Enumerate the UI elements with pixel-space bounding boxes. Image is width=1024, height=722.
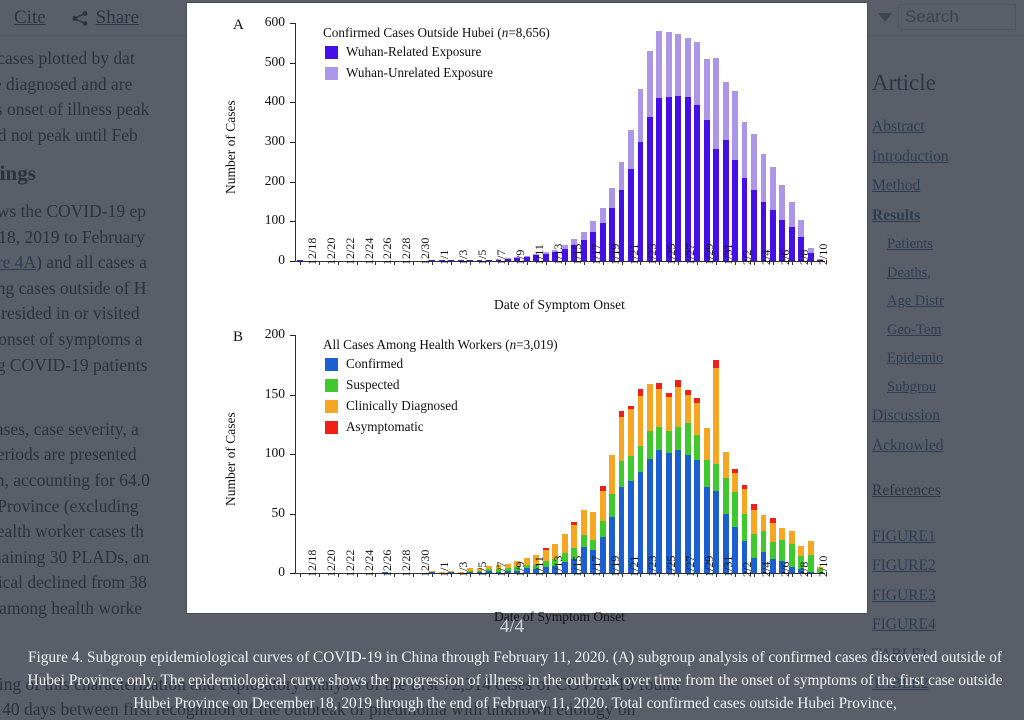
chart-panel-a: A0100200300400500600Number of CasesConfi… xyxy=(187,11,867,311)
bar-segment xyxy=(742,485,748,489)
bar-segment xyxy=(808,541,814,555)
x-tick-mark xyxy=(754,262,755,265)
bar-2-3[interactable] xyxy=(742,485,748,573)
x-tick-mark xyxy=(527,574,528,577)
bar-1-24[interactable] xyxy=(647,384,653,573)
x-tick-label: 12/24 xyxy=(362,238,377,265)
x-tick-label: 1/17 xyxy=(589,556,604,577)
bar-segment xyxy=(694,42,700,105)
bar-segment xyxy=(600,521,606,538)
bar-segment xyxy=(675,427,681,451)
x-tick-mark xyxy=(394,262,395,265)
bar-segment xyxy=(713,58,719,148)
bar-segment xyxy=(704,460,710,487)
x-tick-label: 1/3 xyxy=(456,250,471,265)
bar-segment xyxy=(666,431,672,452)
x-tick-label: 2/10 xyxy=(816,556,831,577)
x-tick-label: 1/9 xyxy=(513,250,528,265)
x-tick-mark xyxy=(413,262,414,265)
bar-segment xyxy=(628,406,634,408)
bar-segment xyxy=(713,464,719,491)
page-indicator: 4/4 xyxy=(0,616,1024,638)
bar-1-21[interactable] xyxy=(619,411,625,573)
bar-segment xyxy=(600,486,606,491)
x-tick-label: 1/11 xyxy=(532,244,547,265)
bar-1-24[interactable] xyxy=(647,51,653,261)
bar-segment xyxy=(600,208,606,223)
bar-segment xyxy=(562,534,568,553)
bar-segment xyxy=(638,389,644,396)
x-tick-label: 2/4 xyxy=(759,562,774,577)
x-tick-label: 12/28 xyxy=(399,238,414,265)
bar-segment xyxy=(694,435,700,460)
x-tick-label: 1/9 xyxy=(513,562,528,577)
bar-segment xyxy=(628,409,634,457)
x-tick-label: 1/3 xyxy=(456,562,471,577)
x-tick-label: 2/2 xyxy=(740,250,755,265)
bar-segment xyxy=(779,540,785,561)
x-tick-label: 12/30 xyxy=(418,550,433,577)
bar-segment xyxy=(704,120,710,261)
figure-canvas: A0100200300400500600Number of CasesConfi… xyxy=(187,3,867,613)
bar-segment xyxy=(666,97,672,261)
x-tick-label: 1/29 xyxy=(702,244,717,265)
y-axis-title: Number of Cases xyxy=(223,412,239,506)
bar-segment xyxy=(638,89,644,143)
bar-segment xyxy=(297,260,303,261)
x-tick-label: 1/5 xyxy=(475,250,490,265)
x-tick-label: 1/25 xyxy=(664,556,679,577)
x-tick-mark xyxy=(432,574,433,577)
x-tick-label: 1/27 xyxy=(683,556,698,577)
bar-segment xyxy=(742,178,748,261)
bar-1-28[interactable] xyxy=(685,390,691,573)
x-tick-mark xyxy=(678,574,679,577)
bar-segment xyxy=(751,510,757,534)
x-tick-label: 1/21 xyxy=(627,244,642,265)
bar-2-4[interactable] xyxy=(751,134,757,261)
x-tick-label: 1/19 xyxy=(608,556,623,577)
bar-segment xyxy=(704,59,710,120)
bar-segment xyxy=(619,162,625,191)
chart-panel-b: B050100150200Number of CasesAll Cases Am… xyxy=(187,323,867,623)
x-tick-mark xyxy=(394,574,395,577)
bar-1-22[interactable] xyxy=(628,406,634,573)
x-tick-label: 1/7 xyxy=(494,562,509,577)
bar-1-29[interactable] xyxy=(694,398,700,573)
bar-segment xyxy=(543,548,549,550)
bar-segment xyxy=(694,403,700,435)
x-tick-label: 1/7 xyxy=(494,250,509,265)
bar-segment xyxy=(798,220,804,237)
bar-segment xyxy=(770,167,776,210)
x-tick-label: 1/29 xyxy=(702,556,717,577)
plot-area xyxy=(295,335,825,573)
x-tick-mark xyxy=(357,574,358,577)
x-tick-label: 2/8 xyxy=(797,250,812,265)
bar-segment xyxy=(675,34,681,96)
bar-segment xyxy=(694,398,700,403)
x-tick-label: 1/11 xyxy=(532,556,547,577)
bar-segment xyxy=(609,455,615,494)
x-tick-mark xyxy=(413,574,414,577)
x-tick-mark xyxy=(451,574,452,577)
bar-1-23[interactable] xyxy=(638,89,644,261)
x-tick-label: 1/13 xyxy=(551,556,566,577)
bar-segment xyxy=(789,202,795,227)
x-tick-mark xyxy=(697,574,698,577)
bar-segment xyxy=(732,469,738,473)
bar-segment xyxy=(732,492,738,527)
bar-segment xyxy=(761,515,767,532)
x-tick-mark xyxy=(338,262,339,265)
bar-segment xyxy=(647,384,653,432)
bar-segment xyxy=(723,82,729,140)
bar-1-31[interactable] xyxy=(713,58,719,261)
bar-segment xyxy=(609,494,615,517)
x-tick-mark xyxy=(546,262,547,265)
bar-segment xyxy=(713,360,719,368)
x-tick-label: 1/1 xyxy=(437,562,452,577)
bar-segment xyxy=(628,130,634,169)
x-tick-label: 1/19 xyxy=(608,244,623,265)
bar-segment xyxy=(713,368,719,463)
bar-segment xyxy=(723,452,729,478)
x-tick-label: 12/28 xyxy=(399,550,414,577)
bar-1-26[interactable] xyxy=(666,32,672,261)
bar-segment xyxy=(761,531,767,551)
x-tick-label: 12/22 xyxy=(343,550,358,577)
x-tick-label: 1/31 xyxy=(721,556,736,577)
x-tick-label: 1/27 xyxy=(683,244,698,265)
bar-1-28[interactable] xyxy=(685,38,691,261)
x-tick-mark xyxy=(735,262,736,265)
x-tick-mark xyxy=(489,574,490,577)
bar-segment xyxy=(675,387,681,426)
x-tick-mark xyxy=(811,262,812,265)
x-tick-mark xyxy=(470,262,471,265)
bar-segment xyxy=(751,534,757,558)
bar-segment xyxy=(704,428,710,460)
y-tick-label: 0 xyxy=(245,567,285,577)
bar-segment xyxy=(628,456,634,481)
bar-1-25[interactable] xyxy=(656,31,662,261)
bar-segment xyxy=(590,221,596,232)
bar-segment xyxy=(581,232,587,240)
x-tick-mark xyxy=(546,574,547,577)
x-tick-mark xyxy=(489,262,490,265)
bar-segment xyxy=(742,514,748,541)
bar-segment xyxy=(571,522,577,526)
x-tick-label: 1/23 xyxy=(645,244,660,265)
bar-segment xyxy=(666,397,672,432)
plot-area xyxy=(295,23,825,261)
x-tick-mark xyxy=(678,262,679,265)
y-tick-label: 0 xyxy=(245,255,285,265)
bar-segment xyxy=(619,461,625,487)
x-tick-mark xyxy=(659,262,660,265)
bar-segment xyxy=(656,427,662,451)
bar-segment xyxy=(723,478,729,514)
x-tick-mark xyxy=(375,262,376,265)
x-tick-label: 1/15 xyxy=(570,556,585,577)
x-tick-label: 2/6 xyxy=(778,562,793,577)
x-tick-label: 12/26 xyxy=(380,238,395,265)
x-tick-mark xyxy=(375,574,376,577)
y-tick-mark xyxy=(290,261,295,262)
x-tick-mark xyxy=(716,574,717,577)
y-tick-label: 100 xyxy=(245,448,285,458)
bar-2-3[interactable] xyxy=(742,122,748,261)
bar-segment xyxy=(742,489,748,514)
x-tick-label: 1/25 xyxy=(664,244,679,265)
x-tick-label: 2/6 xyxy=(778,250,793,265)
bar-2-2[interactable] xyxy=(732,91,738,261)
bar-segment xyxy=(751,134,757,190)
x-tick-mark xyxy=(603,262,604,265)
panel-letter: A xyxy=(233,17,244,34)
bar-1-27[interactable] xyxy=(675,34,681,261)
bar-1-30[interactable] xyxy=(704,59,710,261)
y-tick-label: 50 xyxy=(245,508,285,518)
x-tick-mark xyxy=(319,574,320,577)
bar-segment xyxy=(685,97,691,261)
x-tick-mark xyxy=(432,262,433,265)
bar-segment xyxy=(656,450,662,573)
x-tick-mark xyxy=(584,262,585,265)
bar-segment xyxy=(779,185,785,220)
bar-segment xyxy=(770,542,776,559)
x-tick-label: 12/24 xyxy=(362,550,377,577)
bar-segment xyxy=(581,535,587,547)
bar-segment xyxy=(571,525,577,548)
x-tick-mark xyxy=(773,574,774,577)
x-tick-mark xyxy=(773,262,774,265)
bar-segment xyxy=(600,491,606,521)
bar-segment xyxy=(647,51,653,118)
y-tick-label: 400 xyxy=(245,96,285,106)
bar-segment xyxy=(656,98,662,261)
x-tick-mark xyxy=(792,574,793,577)
bar-2-1[interactable] xyxy=(723,82,729,261)
bar-1-31[interactable] xyxy=(713,360,719,573)
x-tick-mark xyxy=(603,574,604,577)
bar-segment xyxy=(666,32,672,97)
bar-segment xyxy=(751,504,757,510)
bar-segment xyxy=(685,395,691,424)
bar-segment xyxy=(656,389,662,427)
bar-segment xyxy=(619,417,625,461)
x-tick-label: 12/20 xyxy=(324,238,339,265)
x-tick-label: 2/8 xyxy=(797,562,812,577)
x-tick-mark xyxy=(697,262,698,265)
x-tick-mark xyxy=(527,262,528,265)
bar-1-22[interactable] xyxy=(628,130,634,261)
bar-segment xyxy=(732,473,738,492)
x-tick-label: 12/18 xyxy=(305,238,320,265)
bar-segment xyxy=(581,510,587,535)
y-tick-label: 500 xyxy=(245,57,285,67)
x-tick-label: 1/17 xyxy=(589,244,604,265)
x-tick-mark xyxy=(754,574,755,577)
figure-caption: Figure 4. Subgroup epidemiological curve… xyxy=(16,646,1014,715)
x-tick-mark xyxy=(716,262,717,265)
bar-2-5[interactable] xyxy=(761,154,767,261)
y-tick-label: 200 xyxy=(245,329,285,339)
x-tick-label: 2/10 xyxy=(816,244,831,265)
bar-segment xyxy=(675,450,681,573)
bar-segment xyxy=(647,117,653,261)
bar-segment xyxy=(647,431,653,458)
bar-1-30[interactable] xyxy=(704,428,710,573)
bar-segment xyxy=(798,546,804,557)
x-tick-label: 12/30 xyxy=(418,238,433,265)
x-tick-mark xyxy=(338,574,339,577)
bar-1-26[interactable] xyxy=(666,393,672,573)
x-tick-mark xyxy=(357,262,358,265)
bar-segment xyxy=(619,411,625,417)
x-tick-mark xyxy=(565,574,566,577)
bar-1-23[interactable] xyxy=(638,389,644,573)
y-tick-mark xyxy=(290,573,295,574)
x-tick-mark xyxy=(735,574,736,577)
x-tick-label: 1/15 xyxy=(570,244,585,265)
bar-segment xyxy=(656,383,662,389)
bar-segment xyxy=(779,528,785,540)
y-tick-label: 300 xyxy=(245,136,285,146)
bar-segment xyxy=(656,31,662,98)
y-tick-label: 150 xyxy=(245,389,285,399)
bar-segment xyxy=(761,154,767,202)
panel-letter: B xyxy=(233,329,243,346)
bar-segment xyxy=(770,523,776,542)
x-tick-label: 1/5 xyxy=(475,562,490,577)
x-tick-mark xyxy=(640,574,641,577)
bar-segment xyxy=(685,38,691,96)
bar-1-27[interactable] xyxy=(675,380,681,573)
x-tick-label: 1/21 xyxy=(627,556,642,577)
bar-segment xyxy=(590,540,596,551)
y-tick-label: 200 xyxy=(245,176,285,186)
bar-2-6[interactable] xyxy=(770,167,776,261)
bar-segment xyxy=(742,122,748,178)
x-tick-mark xyxy=(565,262,566,265)
x-tick-label: 12/22 xyxy=(343,238,358,265)
bar-segment xyxy=(789,531,795,544)
x-tick-mark xyxy=(640,262,641,265)
x-tick-mark xyxy=(451,262,452,265)
bar-segment xyxy=(675,96,681,261)
bar-segment xyxy=(638,446,644,472)
bar-segment xyxy=(609,188,615,209)
bar-segment xyxy=(666,393,672,397)
x-tick-label: 1/23 xyxy=(645,556,660,577)
x-tick-mark xyxy=(792,262,793,265)
x-tick-mark xyxy=(508,262,509,265)
bar-1-29[interactable] xyxy=(694,42,700,261)
x-tick-mark xyxy=(622,262,623,265)
bar-segment xyxy=(732,91,738,160)
x-tick-mark xyxy=(622,574,623,577)
x-tick-mark xyxy=(659,574,660,577)
x-tick-mark xyxy=(300,574,301,577)
bar-segment xyxy=(685,423,691,455)
x-tick-mark xyxy=(300,262,301,265)
x-tick-label: 1/31 xyxy=(721,244,736,265)
bar-segment xyxy=(675,380,681,387)
x-tick-mark xyxy=(470,574,471,577)
x-tick-label: 2/2 xyxy=(740,562,755,577)
x-tick-label: 1/1 xyxy=(437,250,452,265)
bar-segment xyxy=(685,390,691,395)
y-tick-label: 600 xyxy=(245,17,285,27)
bar-segment xyxy=(694,105,700,261)
x-tick-label: 12/20 xyxy=(324,550,339,577)
y-tick-label: 100 xyxy=(245,215,285,225)
x-tick-mark xyxy=(319,262,320,265)
x-tick-mark xyxy=(811,574,812,577)
x-tick-label: 12/26 xyxy=(380,550,395,577)
bar-segment xyxy=(590,512,596,539)
x-tick-label: 12/18 xyxy=(305,550,320,577)
bar-1-25[interactable] xyxy=(656,383,662,573)
bar-segment xyxy=(638,396,644,446)
x-tick-mark xyxy=(584,574,585,577)
x-tick-mark xyxy=(508,574,509,577)
x-tick-label: 1/13 xyxy=(551,244,566,265)
y-axis-title: Number of Cases xyxy=(223,100,239,194)
x-tick-label: 2/4 xyxy=(759,250,774,265)
bar-segment xyxy=(770,518,776,523)
x-axis-title: Date of Symptom Onset xyxy=(494,297,625,313)
figure-viewer-modal: A0100200300400500600Number of CasesConfi… xyxy=(187,3,867,613)
